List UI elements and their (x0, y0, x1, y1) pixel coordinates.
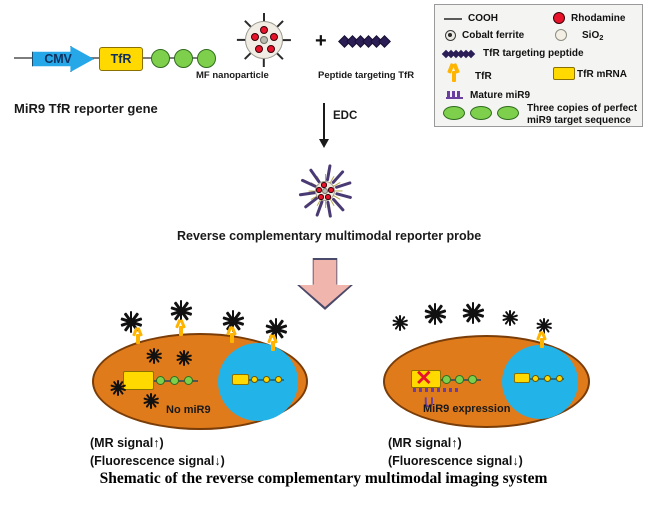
tfr-targeting-peptide-icon (340, 36, 396, 48)
tfr-reporter-label: TfR (99, 49, 143, 69)
internalized-probe-particle (110, 380, 126, 396)
free-probe-particle (462, 302, 484, 324)
nuclear-tfr-mrna (232, 374, 249, 385)
filled-circle-icon (553, 12, 565, 24)
legend-label-target-line2: miR9 target sequence (527, 115, 631, 126)
left-fluorescence-signal: (Fluorescence signal↓) (90, 454, 225, 468)
left-mr-signal: (MR signal↑) (90, 436, 164, 450)
plus-sign: + (315, 30, 327, 53)
diagram-canvas: CMV TfR MiR9 TfR reporter gene MF nanopa… (0, 0, 647, 507)
legend-label-tfr: TfR (475, 71, 492, 82)
gene-construct-caption: MiR9 TfR reporter gene (14, 101, 158, 116)
legend-label-mature-mir9: Mature miR9 (470, 90, 530, 101)
legend-label-tfr-mrna: TfR mRNA (577, 69, 627, 80)
peptide-label: Peptide targeting TfR (318, 70, 414, 81)
mir9-target-site (197, 49, 216, 68)
mir9-target-site (184, 376, 193, 385)
diamond-chain-icon (443, 50, 479, 58)
right-fluorescence-signal: (Fluorescence signal↓) (388, 454, 523, 468)
right-mr-signal: (MR signal↑) (388, 436, 462, 450)
mir9-target-site (442, 375, 451, 384)
tfr-receptor (131, 326, 145, 344)
nuclear-target-site (263, 376, 270, 383)
legend-label-cooh: COOH (468, 13, 498, 24)
yellow-box-icon (553, 67, 575, 80)
nuclear-target-site (556, 375, 563, 382)
nuclear-tfr-mrna (514, 373, 530, 383)
line-icon (444, 18, 462, 20)
probe-label: Reverse complementary multimodal reporte… (177, 229, 481, 243)
mir9-target-site (170, 376, 179, 385)
comb-icon (446, 90, 463, 99)
y-receptor-icon (446, 63, 461, 82)
open-circle-icon (555, 29, 567, 41)
nucleus (218, 343, 298, 421)
mir9-target-site (151, 49, 170, 68)
tfr-receptor (225, 325, 239, 343)
free-probe-particle (502, 310, 518, 326)
mf-nanoparticle-icon (238, 14, 290, 66)
mir9-target-site (455, 375, 464, 384)
legend-label-target-line1: Three copies of perfect (527, 103, 637, 114)
tfr-mrna-box (123, 371, 154, 390)
free-probe-particle (392, 315, 408, 331)
tfr-receptor (266, 333, 280, 351)
nuclear-target-site (532, 375, 539, 382)
legend-label-rhodamine: Rhodamine (571, 13, 625, 24)
cmv-promoter-label: CMV (34, 49, 82, 69)
edc-label: EDC (333, 110, 357, 122)
target-circle-icon (445, 30, 456, 41)
left-cell-state-label: No miR9 (166, 404, 211, 416)
tfr-receptor (535, 330, 549, 348)
legend-label-peptide: TfR targeting peptide (483, 48, 584, 59)
right-cell: ✕ ∪ MiR9 expression (383, 335, 590, 428)
three-ovals-icon (497, 106, 519, 120)
mir9-target-site (174, 49, 193, 68)
three-ovals-icon (443, 106, 465, 120)
three-ovals-icon (470, 106, 492, 120)
free-probe-particle (424, 303, 446, 325)
tfr-receptor (174, 318, 188, 336)
gene-construct: CMV TfR (14, 42, 214, 76)
mir9-target-site (156, 376, 165, 385)
legend-box: COOH Rhodamine Cobalt ferrite SiO2 TfR t… (434, 4, 643, 127)
edc-reaction-arrow (323, 103, 325, 141)
nuclear-target-site (544, 375, 551, 382)
internalized-probe-particle (146, 348, 162, 364)
figure-caption: Shematic of the reverse complementary mu… (0, 470, 647, 488)
right-cell-state-label: MiR9 expression (423, 403, 510, 415)
mrna-cleavage-mark: ✕ (415, 368, 433, 389)
mf-nanoparticle-label: MF nanoparticle (196, 70, 269, 81)
transition-arrow (297, 258, 353, 310)
mature-mir9-strand (413, 388, 463, 393)
legend-label-sio2: SiO2 (582, 30, 603, 42)
internalized-probe-particle (143, 393, 159, 409)
legend-label-cobalt-ferrite: Cobalt ferrite (462, 30, 524, 41)
mir9-target-site (468, 375, 477, 384)
nuclear-target-site (251, 376, 258, 383)
internalized-probe-particle (176, 350, 192, 366)
multimodal-reporter-probe-icon (294, 160, 356, 222)
nuclear-target-site (275, 376, 282, 383)
